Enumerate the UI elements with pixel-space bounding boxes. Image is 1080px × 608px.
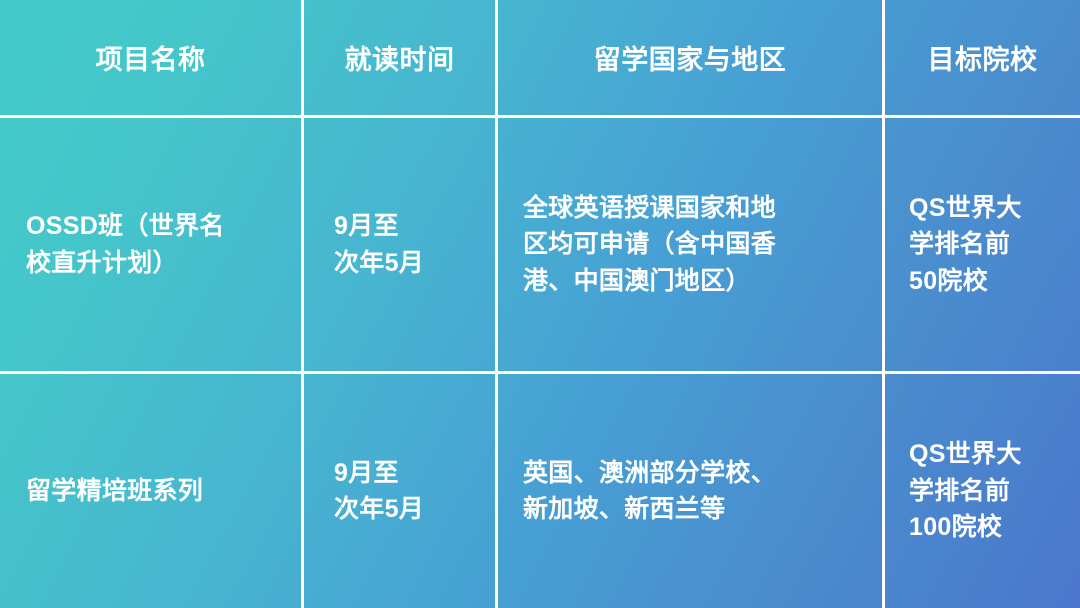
column-header-target-schools-label: 目标院校 [928, 38, 1038, 77]
table-row: 全球英语授课国家和地 区均可申请（含中国香 港、中国澳门地区） [498, 118, 882, 371]
cell-study-period: 9月至 次年5月 [334, 208, 424, 281]
column-header-program-name: 项目名称 [0, 0, 301, 115]
column-header-destinations: 留学国家与地区 [498, 0, 882, 115]
table-row: 留学精培班系列 [0, 374, 301, 608]
table-row: QS世界大 学排名前 50院校 [885, 118, 1080, 371]
cell-program-name: OSSD班（世界名 校直升计划） [26, 208, 225, 281]
cell-destinations: 全球英语授课国家和地 区均可申请（含中国香 港、中国澳门地区） [523, 190, 776, 300]
table-row: 9月至 次年5月 [304, 374, 495, 608]
cell-target-schools: QS世界大 学排名前 100院校 [909, 436, 1022, 546]
column-header-study-period: 就读时间 [304, 0, 495, 115]
table-row: OSSD班（世界名 校直升计划） [0, 118, 301, 371]
column-divider [495, 0, 498, 608]
column-divider [301, 0, 304, 608]
column-header-program-name-label: 项目名称 [96, 38, 206, 77]
cell-target-schools: QS世界大 学排名前 50院校 [909, 190, 1022, 300]
row-divider [0, 371, 1080, 374]
table-row: 9月至 次年5月 [304, 118, 495, 371]
cell-program-name: 留学精培班系列 [26, 473, 203, 510]
table-row: QS世界大 学排名前 100院校 [885, 374, 1080, 608]
table-row: 英国、澳洲部分学校、 新加坡、新西兰等 [498, 374, 882, 608]
column-header-destinations-label: 留学国家与地区 [594, 38, 787, 77]
row-divider [0, 115, 1080, 118]
comparison-table: 项目名称 就读时间 留学国家与地区 目标院校 OSSD班（世界名 校直升计划） … [0, 0, 1080, 608]
column-divider [882, 0, 885, 608]
column-header-target-schools: 目标院校 [885, 0, 1080, 115]
column-header-study-period-label: 就读时间 [345, 38, 455, 77]
cell-study-period: 9月至 次年5月 [334, 455, 424, 528]
cell-destinations: 英国、澳洲部分学校、 新加坡、新西兰等 [523, 455, 776, 528]
